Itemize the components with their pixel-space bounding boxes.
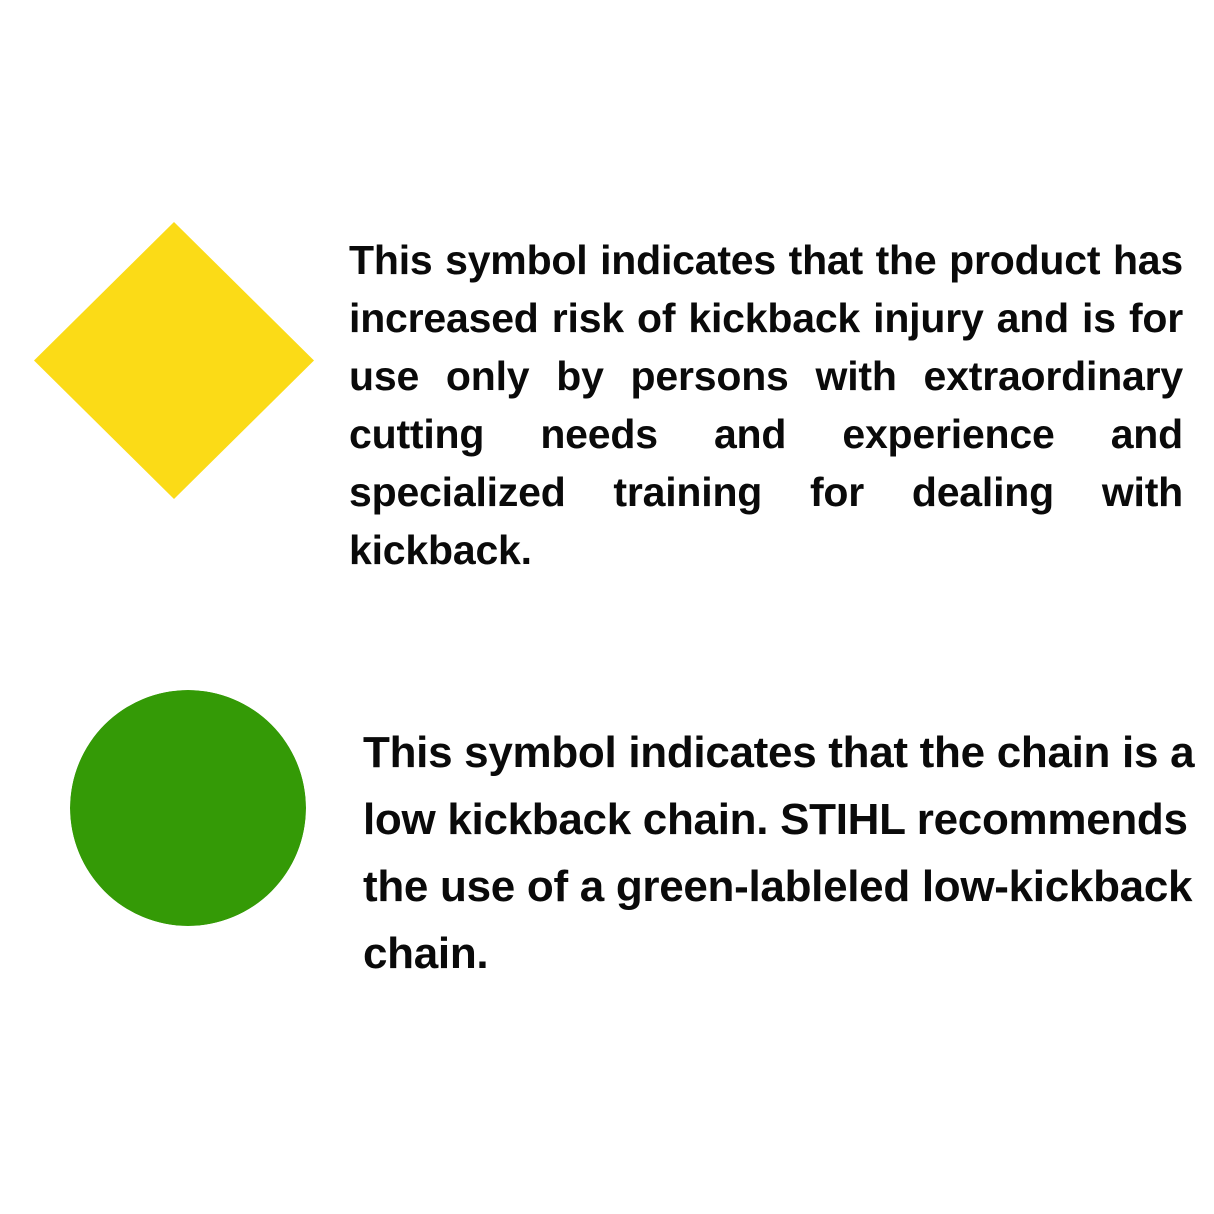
symbol-row-low-kickback: This symbol indicates that the chain is … <box>0 675 1214 935</box>
yellow-diamond-icon <box>34 222 314 499</box>
green-circle-shape <box>70 690 306 926</box>
symbol-row-kickback-warning: This symbol indicates that the product h… <box>0 190 1214 530</box>
green-circle-icon <box>70 690 306 926</box>
kickback-warning-description: This symbol indicates that the product h… <box>349 231 1183 637</box>
low-kickback-description: This symbol indicates that the chain is … <box>363 719 1199 987</box>
symbol-legend-page: This symbol indicates that the product h… <box>0 0 1214 1214</box>
yellow-diamond-shape <box>34 222 314 499</box>
